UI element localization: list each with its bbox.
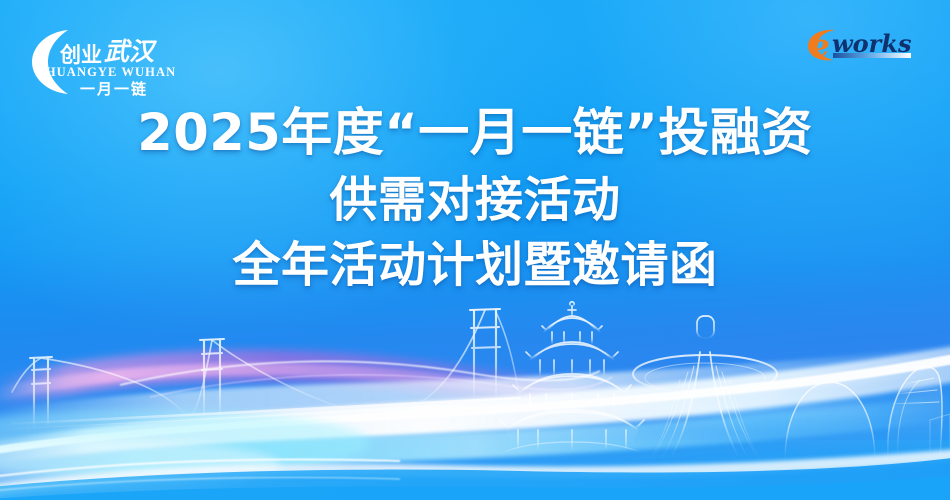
title-line-2: 供需对接活动 bbox=[0, 172, 950, 229]
eworks-letter-e: e bbox=[810, 28, 830, 64]
logo-pinyin-text: CHUANGYE WUHAN bbox=[36, 65, 177, 79]
chuangye-wuhan-logo[interactable]: 创业 武汉 CHUANGYE WUHAN 一月一链 bbox=[26, 22, 186, 98]
title-line-1: 2025年度“一月一链”投融资 bbox=[0, 104, 950, 164]
wuhan-tower bbox=[633, 304, 777, 458]
logo-chinese-text-2: 武汉 bbox=[104, 37, 157, 66]
wuhan-skyline-illustration bbox=[0, 300, 950, 500]
logo-slogan-text: 一月一链 bbox=[80, 80, 148, 98]
banner-title: 2025年度“一月一链”投融资 供需对接活动 全年活动计划暨邀请函 bbox=[0, 104, 950, 293]
yangtze-bridge bbox=[12, 309, 520, 440]
event-banner: 创业 武汉 CHUANGYE WUHAN 一月一链 e works 2025年度… bbox=[0, 0, 950, 500]
logo-chinese-text: 创业 bbox=[59, 43, 102, 67]
eworks-bar bbox=[833, 53, 911, 58]
eworks-logo[interactable]: e works bbox=[806, 24, 924, 66]
title-line-3: 全年活动计划暨邀请函 bbox=[0, 237, 950, 294]
